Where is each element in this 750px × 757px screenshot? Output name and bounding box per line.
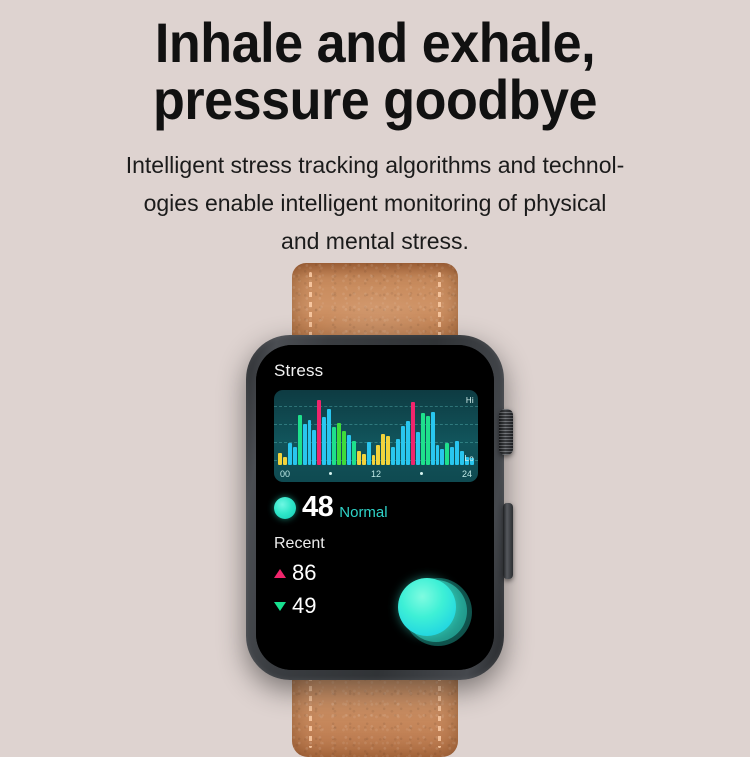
chart-bar (352, 441, 356, 465)
chart-bar (332, 427, 336, 465)
chart-x-axis: 001224 (274, 466, 478, 481)
chart-bar (421, 413, 425, 465)
chart-axis-tick: 00 (280, 469, 290, 479)
page-subtitle: Intelligent stress tracking algorithms a… (0, 146, 750, 260)
stress-score-label: Normal (339, 505, 387, 522)
chart-bar (450, 447, 454, 465)
chart-bar (386, 436, 390, 465)
chart-axis-tick: 24 (462, 469, 472, 479)
chart-bar (440, 449, 444, 465)
stress-score-value: 48 (302, 493, 333, 522)
chart-bar (401, 426, 405, 465)
chart-bar (362, 454, 366, 465)
stress-score-row: 48 Normal (274, 493, 478, 522)
recent-reading-value: 86 (292, 562, 316, 584)
chart-bar (283, 457, 287, 465)
recent-reading-value: 49 (292, 595, 316, 617)
page-title: Inhale and exhale, pressure goodbye (26, 14, 724, 128)
chart-bar (416, 432, 420, 465)
chart-axis-dot (420, 472, 423, 475)
chart-bar (303, 424, 307, 465)
chart-bar (376, 445, 380, 465)
watch-glass: Stress Hi Lo 001224 48 Normal (256, 345, 494, 670)
chart-bar (317, 400, 321, 465)
chart-bar (357, 451, 361, 465)
chart-label-low: Lo (465, 454, 475, 463)
chart-bar (436, 445, 440, 465)
smartwatch-product-image: Stress Hi Lo 001224 48 Normal (0, 255, 750, 750)
chart-bar (288, 443, 292, 465)
arrow-up-icon (274, 569, 286, 578)
chart-bar (312, 430, 316, 465)
orb-ring-inner (398, 578, 456, 636)
chart-bar (293, 447, 297, 465)
side-button-icon[interactable] (503, 503, 513, 579)
recent-section-title: Recent (274, 535, 478, 553)
watch-case: Stress Hi Lo 001224 48 Normal (246, 335, 504, 680)
chart-bar (396, 439, 400, 465)
crown-button-icon[interactable] (499, 409, 513, 455)
chart-bar (455, 441, 459, 465)
chart-bar (426, 416, 430, 465)
chart-axis-dot (329, 472, 332, 475)
chart-bar (381, 434, 385, 465)
chart-bar (460, 451, 464, 465)
screen-title: Stress (274, 361, 478, 381)
chart-bar (406, 421, 410, 465)
breathing-orb-icon[interactable] (398, 574, 472, 648)
chart-bar (367, 442, 371, 465)
chart-bar (431, 412, 435, 465)
arrow-down-icon (274, 602, 286, 611)
chart-axis-tick: 12 (371, 469, 381, 479)
chart-bar (391, 447, 395, 465)
chart-label-high: Hi (466, 396, 474, 405)
chart-bar (347, 435, 351, 465)
chart-bar (342, 431, 346, 465)
chart-bar (278, 453, 282, 465)
watch-screen: Stress Hi Lo 001224 48 Normal (256, 345, 494, 670)
chart-bar (337, 423, 341, 465)
chart-bar (411, 402, 415, 465)
chart-bar (445, 443, 449, 465)
chart-bars (278, 397, 474, 465)
chart-bar (327, 409, 331, 465)
chart-bar (308, 420, 312, 465)
chart-bar (372, 455, 376, 465)
chart-bar (298, 415, 302, 465)
header-block: Inhale and exhale, pressure goodbye Inte… (0, 0, 750, 260)
stress-status-dot-icon (274, 497, 296, 519)
chart-bar (322, 417, 326, 465)
stress-bar-chart[interactable]: Hi Lo 001224 (274, 390, 478, 482)
